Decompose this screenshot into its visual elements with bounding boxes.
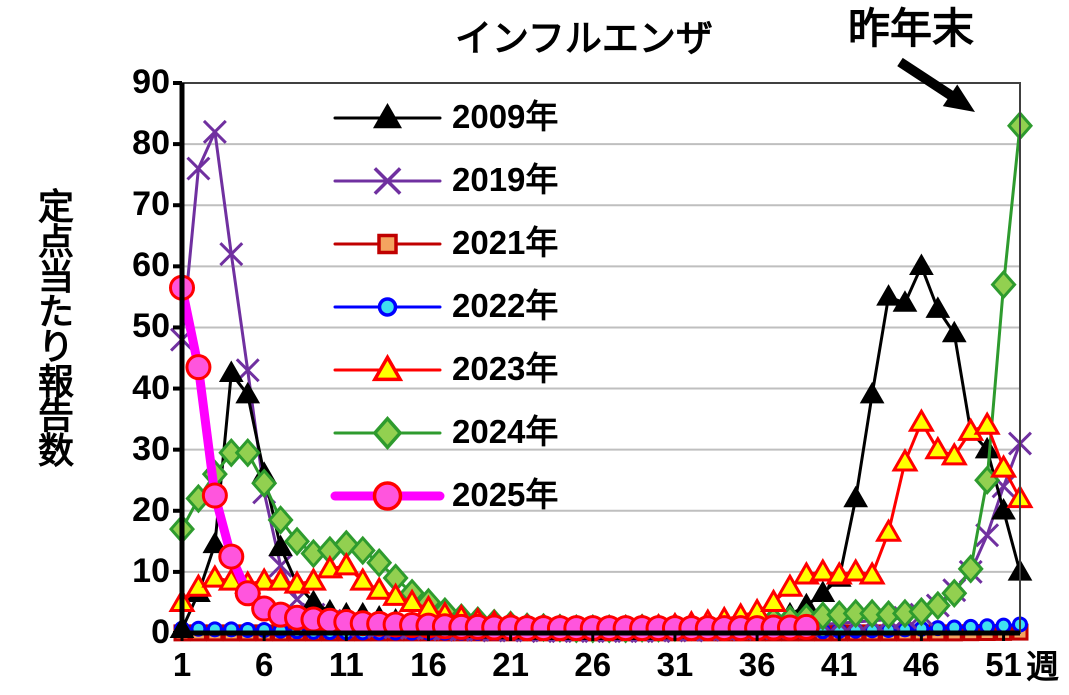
axis-frame xyxy=(173,83,1020,641)
series-2024年 xyxy=(171,113,1031,641)
legend-symbol-2009年[interactable] xyxy=(335,107,440,127)
legend-symbol-2022年[interactable] xyxy=(335,299,440,315)
plot-canvas xyxy=(0,0,1069,695)
grid-lines xyxy=(182,83,1020,572)
influenza-chart: インフルエンザ 昨年末 定点当たり報告数 週 90807060504030201… xyxy=(0,0,1069,695)
legend-symbol-2024年[interactable] xyxy=(335,419,440,448)
legend-symbols xyxy=(335,107,440,510)
legend-symbol-2023年[interactable] xyxy=(335,357,440,379)
legend-symbol-2019年[interactable] xyxy=(335,168,440,193)
series-lines xyxy=(171,113,1032,642)
legend-symbol-2025年[interactable] xyxy=(335,483,440,509)
series-2019年 xyxy=(171,121,1031,642)
legend-symbol-2021年[interactable] xyxy=(335,236,440,253)
annotation-arrow xyxy=(900,62,975,112)
